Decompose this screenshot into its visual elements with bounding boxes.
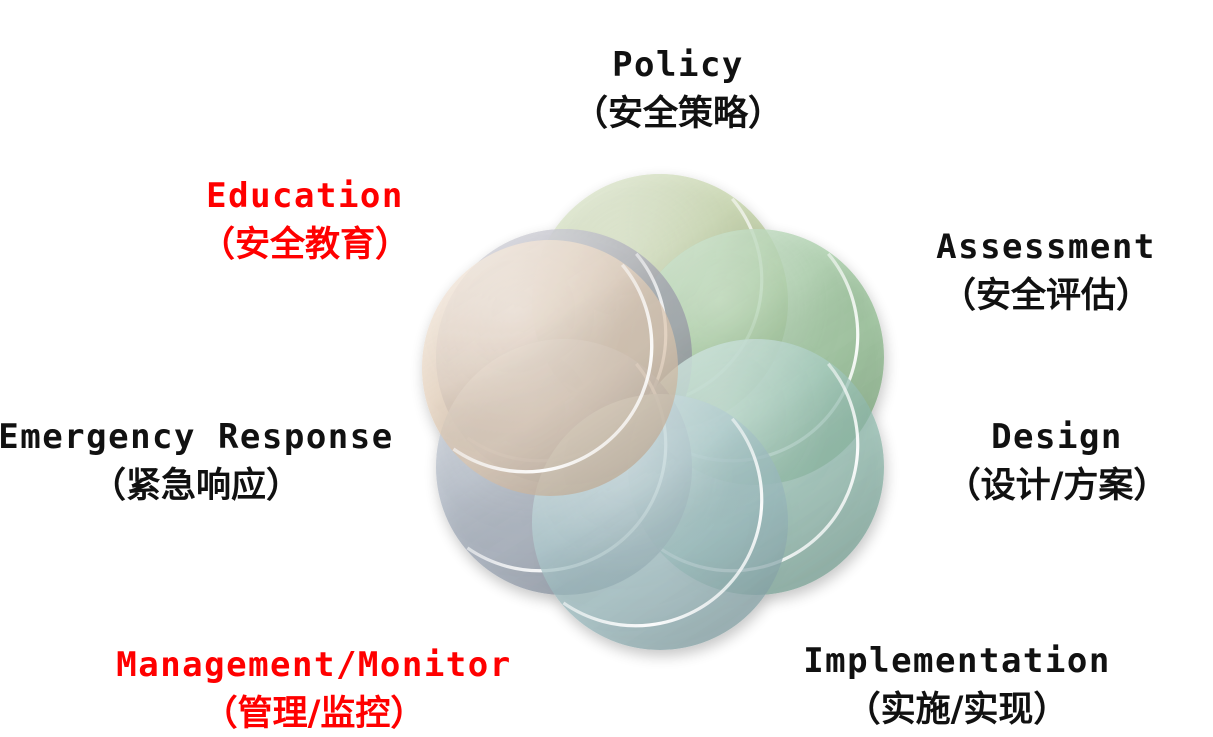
venn-label-policy[interactable]: Policy （安全策略） (573, 44, 783, 136)
venn-label-emergency-response-cn: （紧急响应） (0, 463, 394, 508)
venn-label-management-monitor-cn: （管理/监控） (116, 691, 511, 736)
diagram-canvas: Education （安全教育） Policy （安全策略） Assessmen… (0, 0, 1213, 737)
venn-label-management-monitor[interactable]: Management/Monitor （管理/监控） (116, 644, 511, 736)
venn-label-emergency-response[interactable]: Emergency Response （紧急响应） (0, 416, 394, 508)
disc-emergency-response[interactable] (436, 229, 692, 485)
venn-label-implementation[interactable]: Implementation （实施/实现） (803, 640, 1111, 732)
venn-label-design[interactable]: Design （设计/方案） (946, 416, 1169, 508)
disc-management-monitor[interactable] (436, 339, 692, 595)
venn-label-assessment-en: Assessment (936, 226, 1156, 270)
disc-education[interactable] (422, 240, 678, 496)
venn-label-design-cn: （设计/方案） (946, 463, 1169, 508)
venn-label-implementation-cn: （实施/实现） (803, 687, 1111, 732)
disc-policy[interactable] (532, 174, 788, 430)
venn-label-design-en: Design (946, 416, 1169, 460)
venn-label-assessment-cn: （安全评估） (936, 273, 1156, 318)
venn-label-policy-en: Policy (573, 44, 783, 88)
venn-label-implementation-en: Implementation (803, 640, 1111, 684)
disc-design[interactable] (628, 339, 884, 595)
disc-implementation[interactable] (532, 394, 788, 650)
venn-label-policy-cn: （安全策略） (573, 91, 783, 136)
venn-label-education-en: Education (200, 175, 410, 219)
venn-label-education-cn: （安全教育） (200, 222, 410, 267)
disc-assessment[interactable] (628, 229, 884, 485)
venn-label-management-monitor-en: Management/Monitor (116, 644, 511, 688)
venn-label-emergency-response-en: Emergency Response (0, 416, 394, 460)
venn-label-assessment[interactable]: Assessment （安全评估） (936, 226, 1156, 318)
venn-label-education[interactable]: Education （安全教育） (200, 175, 410, 267)
